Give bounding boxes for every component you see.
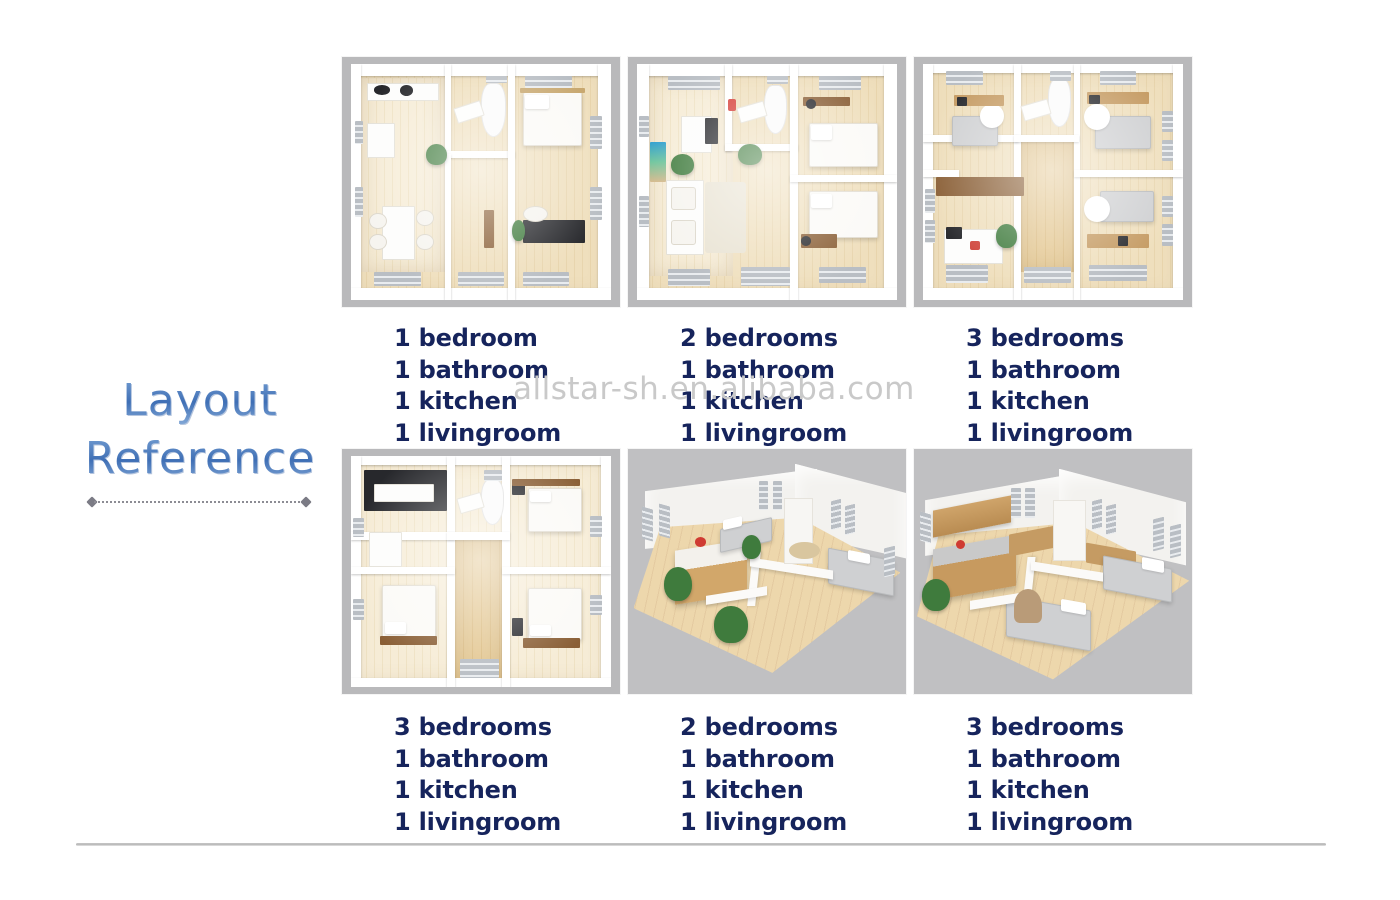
slide-canvas: Layout Reference	[0, 0, 1400, 900]
plan-card-5[interactable]: 2 bedrooms 1 bathroom 1 kitchen 1 living…	[628, 449, 906, 838]
caption-line-livingrooms: 1 livingroom	[680, 418, 906, 450]
layout-grid: 1 bedroom 1 bathroom 1 kitchen 1 livingr…	[342, 57, 1192, 838]
plan-caption-6: 3 bedrooms 1 bathroom 1 kitchen 1 living…	[914, 712, 1192, 838]
floorplan-image-5[interactable]	[628, 449, 906, 694]
caption-line-bathrooms: 1 bathroom	[966, 744, 1192, 776]
floorplan-image-2[interactable]	[628, 57, 906, 307]
caption-line-bathrooms: 1 bathroom	[394, 744, 620, 776]
divider-dashed-line	[94, 501, 304, 503]
floorplan-image-3[interactable]	[914, 57, 1192, 307]
plan-caption-2: 2 bedrooms 1 bathroom 1 kitchen 1 living…	[628, 323, 906, 449]
plan-caption-3: 3 bedrooms 1 bathroom 1 kitchen 1 living…	[914, 323, 1192, 449]
caption-line-kitchens: 1 kitchen	[394, 386, 620, 418]
caption-line-bedrooms: 3 bedrooms	[394, 712, 620, 744]
caption-line-livingrooms: 1 livingroom	[966, 418, 1192, 450]
layout-grid-row-1: 1 bedroom 1 bathroom 1 kitchen 1 livingr…	[342, 57, 1192, 449]
floorplan-image-1[interactable]	[342, 57, 620, 307]
bottom-divider	[76, 843, 1326, 846]
plan-caption-4: 3 bedrooms 1 bathroom 1 kitchen 1 living…	[342, 712, 620, 838]
caption-line-bedrooms: 3 bedrooms	[966, 323, 1192, 355]
plan-card-3[interactable]: 3 bedrooms 1 bathroom 1 kitchen 1 living…	[914, 57, 1192, 449]
plan-caption-5: 2 bedrooms 1 bathroom 1 kitchen 1 living…	[628, 712, 906, 838]
caption-line-bathrooms: 1 bathroom	[966, 355, 1192, 387]
caption-line-bedrooms: 2 bedrooms	[680, 712, 906, 744]
plan-card-4[interactable]: 3 bedrooms 1 bathroom 1 kitchen 1 living…	[342, 449, 620, 838]
caption-line-bedrooms: 1 bedroom	[394, 323, 620, 355]
caption-line-bathrooms: 1 bathroom	[680, 744, 906, 776]
floorplan-image-6[interactable]	[914, 449, 1192, 694]
caption-line-kitchens: 1 kitchen	[966, 775, 1192, 807]
page-title-line-2: Reference	[80, 430, 320, 488]
caption-line-livingrooms: 1 livingroom	[394, 807, 620, 839]
caption-line-kitchens: 1 kitchen	[680, 775, 906, 807]
caption-line-kitchens: 1 kitchen	[680, 386, 906, 418]
divider-endpoint-right-icon	[300, 496, 311, 507]
caption-line-bedrooms: 2 bedrooms	[680, 323, 906, 355]
plan-card-6[interactable]: 3 bedrooms 1 bathroom 1 kitchen 1 living…	[914, 449, 1192, 838]
caption-line-livingrooms: 1 livingroom	[680, 807, 906, 839]
title-divider	[88, 497, 310, 507]
layout-grid-row-2: 3 bedrooms 1 bathroom 1 kitchen 1 living…	[342, 449, 1192, 838]
page-title: Layout Reference	[80, 372, 320, 488]
caption-line-bathrooms: 1 bathroom	[394, 355, 620, 387]
caption-line-bedrooms: 3 bedrooms	[966, 712, 1192, 744]
caption-line-bathrooms: 1 bathroom	[680, 355, 906, 387]
caption-line-livingrooms: 1 livingroom	[394, 418, 620, 450]
plan-card-2[interactable]: 2 bedrooms 1 bathroom 1 kitchen 1 living…	[628, 57, 906, 449]
plan-card-1[interactable]: 1 bedroom 1 bathroom 1 kitchen 1 livingr…	[342, 57, 620, 449]
page-title-line-1: Layout	[80, 372, 320, 430]
caption-line-kitchens: 1 kitchen	[966, 386, 1192, 418]
floorplan-image-4[interactable]	[342, 449, 620, 694]
caption-line-kitchens: 1 kitchen	[394, 775, 620, 807]
plan-caption-1: 1 bedroom 1 bathroom 1 kitchen 1 livingr…	[342, 323, 620, 449]
caption-line-livingrooms: 1 livingroom	[966, 807, 1192, 839]
